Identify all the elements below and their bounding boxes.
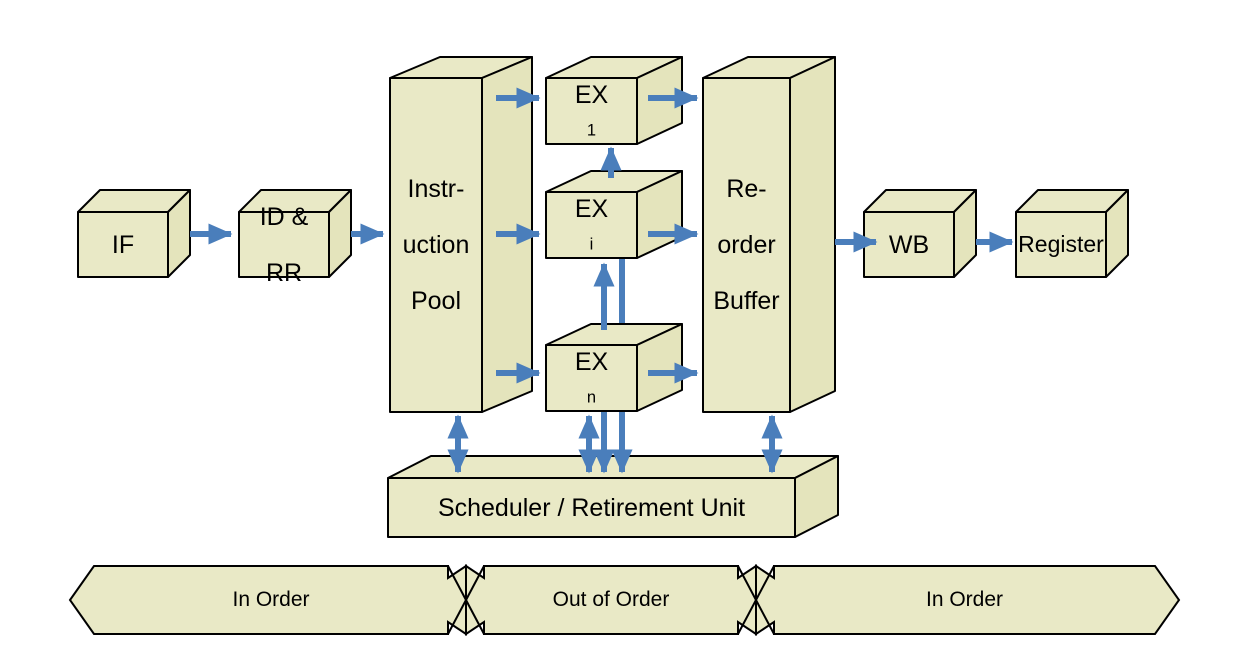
block-if[interactable]: [78, 190, 190, 277]
block-register[interactable]: [1016, 190, 1128, 277]
block-exn-front: [546, 345, 637, 411]
diagram-canvas: IF ID &RR Instr-uctionPool EX1 EXi EXn R…: [0, 0, 1249, 661]
block-register-front: [1016, 212, 1106, 277]
block-exi[interactable]: [546, 171, 682, 258]
block-reorder-buffer-front: [703, 78, 790, 412]
phase-segment-in-order-front[interactable]: [70, 566, 466, 634]
block-exn[interactable]: [546, 324, 682, 411]
block-exi-front: [546, 192, 637, 258]
phase-segment-out-of-order[interactable]: [466, 566, 756, 634]
phase-segment-in-order-back[interactable]: [756, 566, 1179, 634]
block-reorder-buffer[interactable]: [703, 57, 835, 412]
block-instruction-pool-front: [390, 78, 482, 412]
phase-bar: [70, 566, 1179, 634]
block-ex1-front: [546, 78, 637, 144]
block-reorder-buffer-side: [790, 57, 835, 412]
block-id-rr[interactable]: [239, 190, 351, 277]
block-scheduler-front: [388, 478, 795, 537]
block-if-front: [78, 212, 168, 277]
block-id-rr-front: [239, 212, 329, 277]
diagram-svg: [0, 0, 1249, 661]
block-wb-front: [864, 212, 954, 277]
block-wb[interactable]: [864, 190, 976, 277]
